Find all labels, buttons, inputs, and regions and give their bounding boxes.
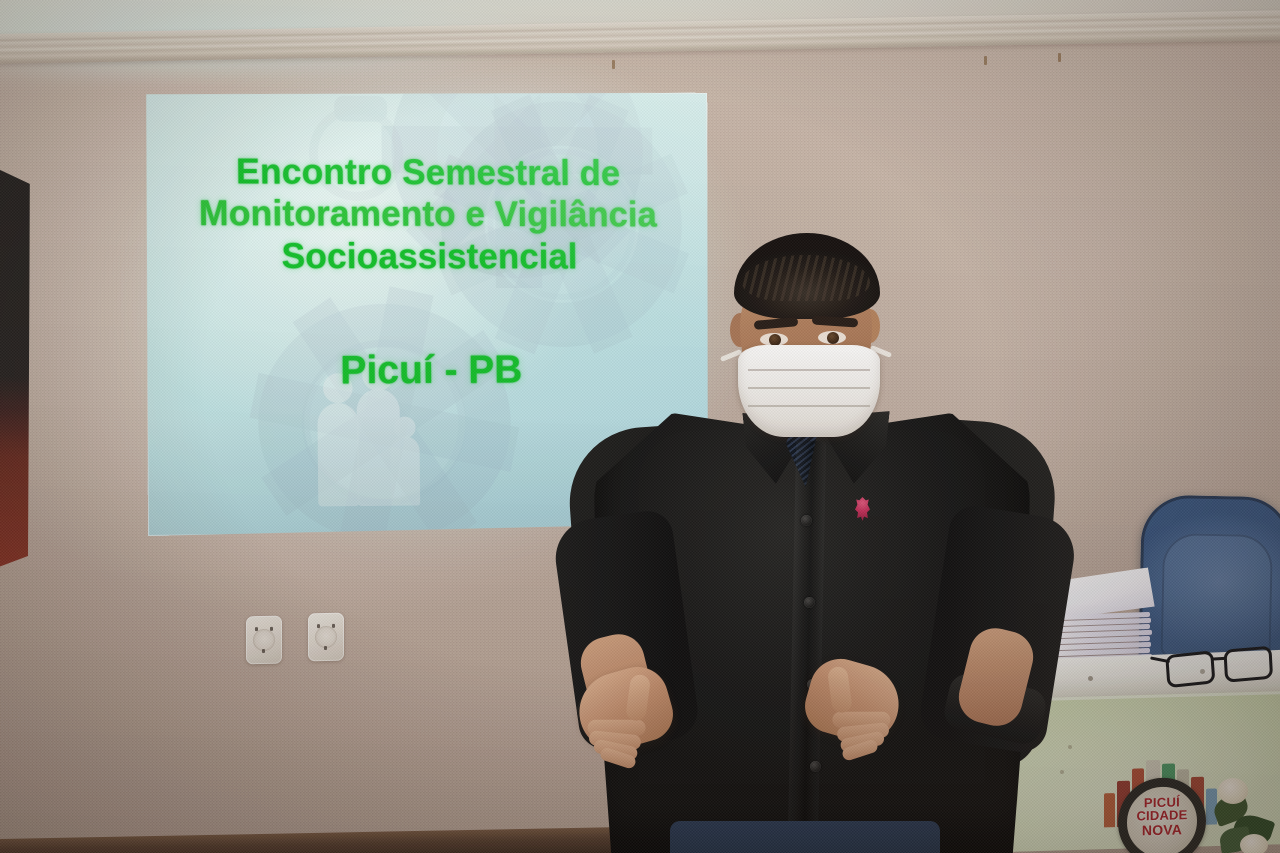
photo-scene: Encontro Semestral de Monitoramento e Vi… bbox=[0, 0, 1280, 853]
shirt-button bbox=[801, 515, 812, 526]
outlet-socket bbox=[315, 626, 337, 648]
outlet-pin bbox=[324, 646, 327, 650]
shirt-button bbox=[804, 597, 815, 608]
wall-outlet-left bbox=[246, 616, 282, 665]
head bbox=[732, 227, 880, 423]
picui-cidade-nova-logo: PICUÍ CIDADE NOVA bbox=[1088, 750, 1224, 853]
wall-nail bbox=[984, 56, 987, 65]
logo-text-block: PICUÍ CIDADE NOVA bbox=[1126, 795, 1198, 838]
iris bbox=[827, 332, 839, 344]
eye-right bbox=[818, 331, 846, 344]
slide-subtitle: Picuí - PB bbox=[340, 348, 522, 393]
hair bbox=[734, 233, 880, 319]
shirt-emblem-icon bbox=[855, 497, 870, 521]
potted-plant bbox=[1212, 778, 1280, 853]
mask-pleat bbox=[748, 387, 870, 389]
mask-pleat bbox=[748, 369, 870, 371]
shirt-button bbox=[810, 761, 821, 772]
chair-backrest-inner bbox=[1161, 533, 1274, 659]
face-mask bbox=[738, 345, 880, 437]
slide-title-line-1: Encontro Semestral de bbox=[168, 150, 687, 195]
plant-bloom bbox=[1218, 778, 1248, 804]
logo-building bbox=[1104, 793, 1115, 827]
mask-pleat bbox=[748, 405, 870, 407]
plant-bloom bbox=[1240, 834, 1268, 853]
dark-flag bbox=[0, 168, 30, 568]
glasses-lens-right bbox=[1223, 646, 1273, 683]
outlet-socket bbox=[253, 629, 275, 651]
logo-line-3: NOVA bbox=[1126, 821, 1198, 837]
glasses-lens-left bbox=[1165, 650, 1215, 688]
outlet-pin bbox=[255, 627, 258, 631]
wall-nail bbox=[1058, 53, 1061, 62]
presenter bbox=[560, 215, 1100, 853]
outlet-pin bbox=[332, 624, 335, 628]
outlet-pin bbox=[270, 627, 273, 631]
outlet-pin bbox=[317, 624, 320, 628]
wall-outlet-right bbox=[308, 613, 344, 662]
jeans bbox=[670, 821, 940, 853]
outlet-pin bbox=[262, 649, 265, 653]
